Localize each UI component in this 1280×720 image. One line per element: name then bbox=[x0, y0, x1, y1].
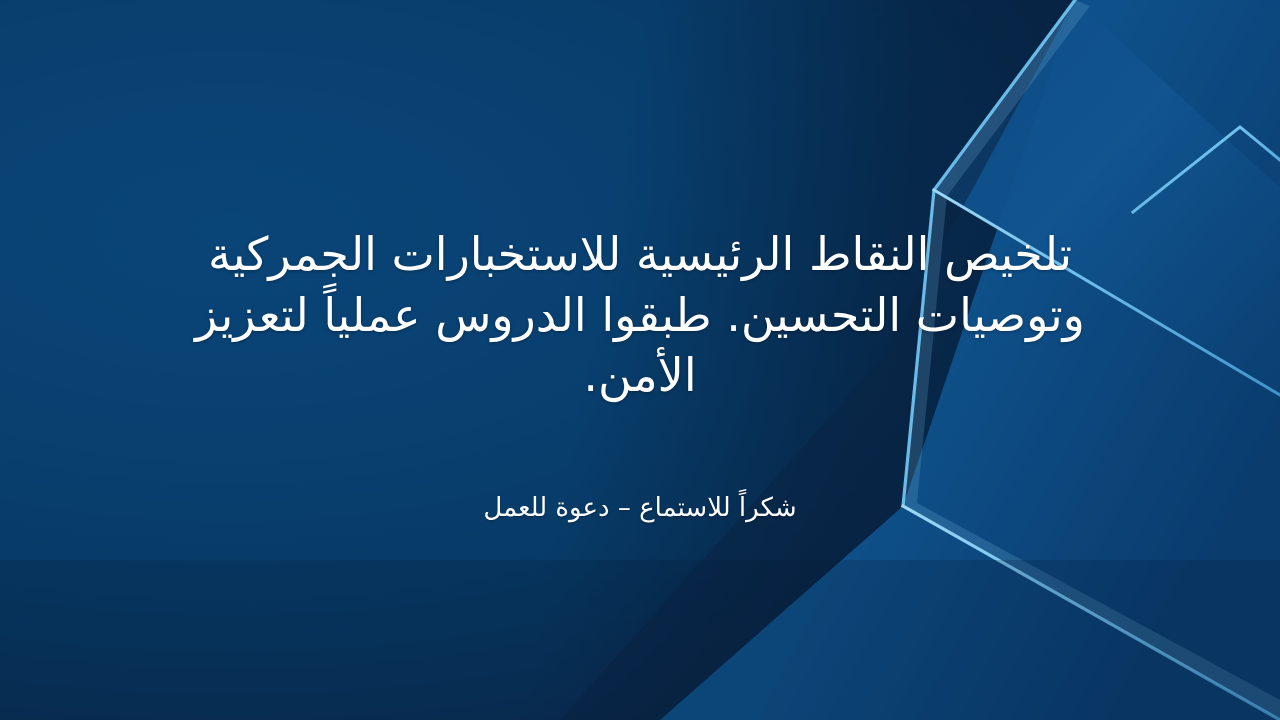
slide-title: تلخيص النقاط الرئيسية للاستخبارات الجمرك… bbox=[150, 224, 1130, 406]
presentation-slide: تلخيص النقاط الرئيسية للاستخبارات الجمرك… bbox=[0, 0, 1280, 720]
slide-subtitle: شكراً للاستماع – دعوة للعمل bbox=[150, 492, 1130, 526]
slide-text-block: تلخيص النقاط الرئيسية للاستخبارات الجمرك… bbox=[0, 0, 1280, 720]
